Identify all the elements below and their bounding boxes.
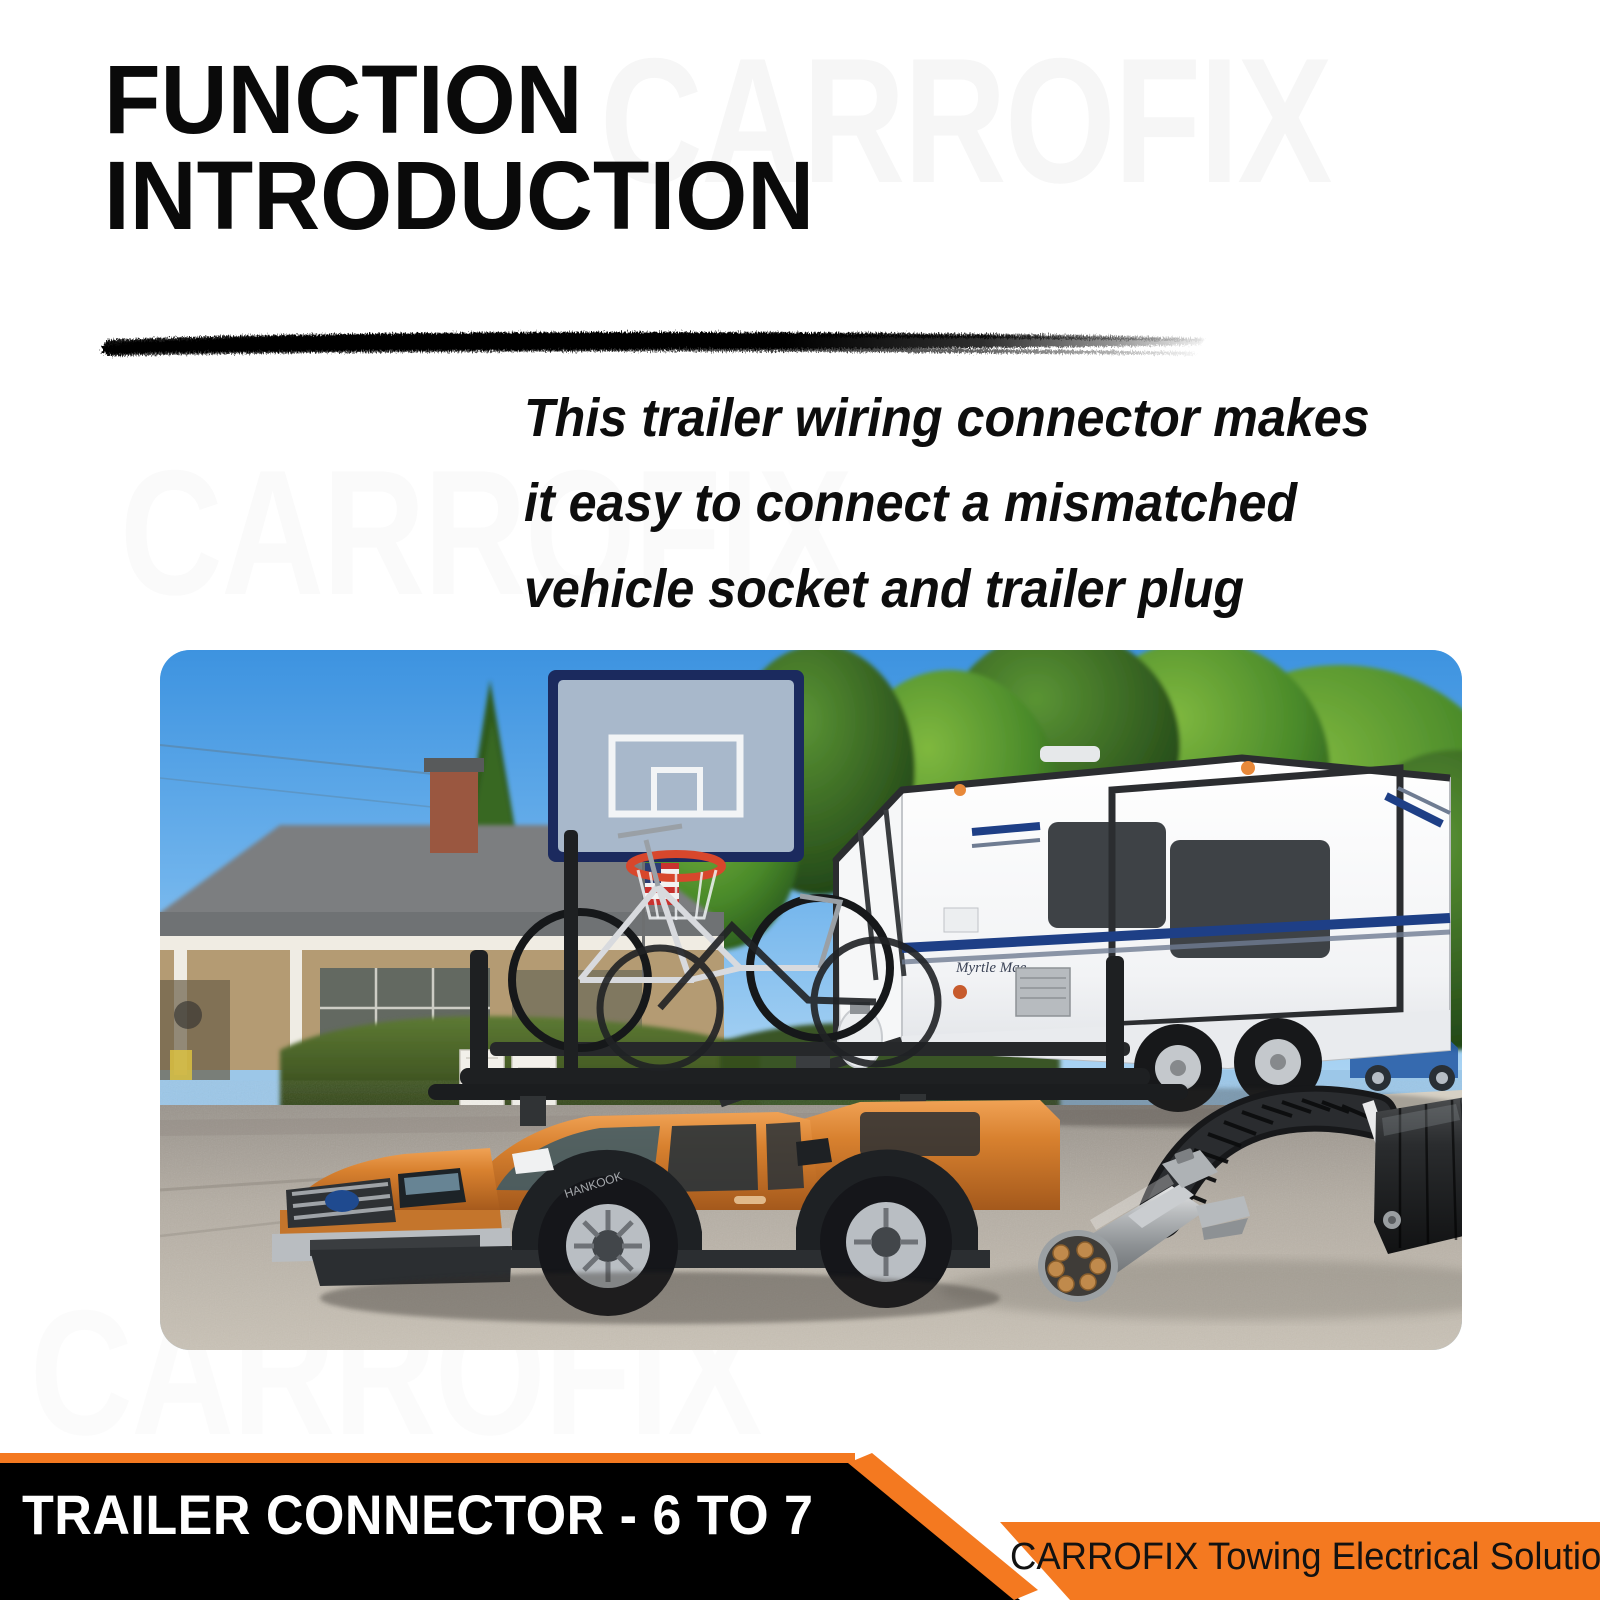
product-hero-photo: Myrtle Mae (160, 650, 1462, 1350)
page-title: FUNCTION INTRODUCTION (104, 52, 848, 244)
page-title-line-1: FUNCTION (104, 52, 814, 148)
page-title-line-2: INTRODUCTION (104, 148, 814, 244)
banner-orange-top-strip (0, 1453, 855, 1463)
subtitle-line-3: vehicle socket and trailer plug (524, 547, 1463, 632)
brush-stroke-divider (96, 312, 1208, 372)
subtitle-block: This trailer wiring connector makes it e… (524, 376, 1534, 632)
subtitle-line-2: it easy to connect a mismatched (524, 461, 1463, 546)
subtitle-line-1: This trailer wiring connector makes (524, 376, 1463, 461)
banner-tagline: CARROFIX Towing Electrical Solutions (1010, 1538, 1600, 1576)
banner-product-title: TRAILER CONNECTOR - 6 TO 7 (22, 1487, 813, 1543)
